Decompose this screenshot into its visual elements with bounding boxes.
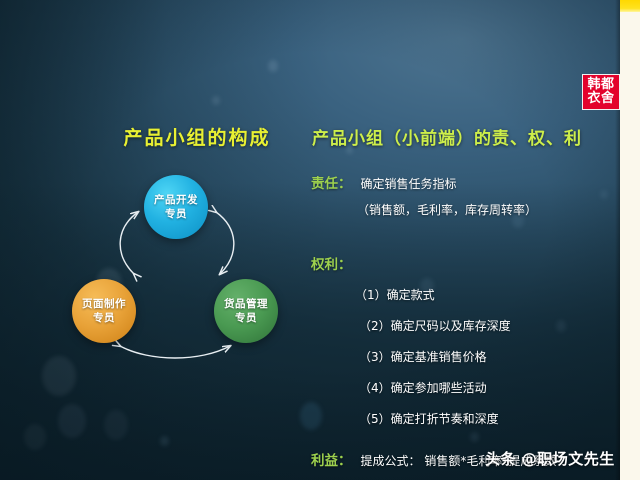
rights-label: 权利： [311,253,611,273]
list-item: （4）确定参加哪些活动 [359,379,611,396]
responsibility-label: 责任： [311,172,352,192]
responsibilities-content: 责任： 确定销售任务指标 （销售额，毛利率，库存周转率） 权利： （1）确定款式… [311,172,611,473]
arrow-orange-blue [120,212,138,274]
brand-logo-line1: 韩都 [587,78,614,92]
right-section-title: 产品小组（小前端）的责、权、利 [312,124,582,149]
yellow-corner-marker [620,0,640,12]
brand-logo: 韩都 衣舍 [582,74,620,110]
rights-list: （1）确定款式 （2）确定尺码以及库存深度 （3）确定基准销售价格 （4）确定参… [311,286,611,427]
node-page-production: 页面制作 专员 [72,279,136,343]
arrow-blue-green [216,212,234,274]
watermark: 头条 @职场文先生 [485,448,615,469]
list-item: （1）确定款式 [355,286,611,303]
node-label-line2: 专员 [235,311,257,325]
rights-block: 权利： （1）确定款式 （2）确定尺码以及库存深度 （3）确定基准销售价格 （4… [311,253,611,427]
team-structure-diagram: 产品开发 专员 页面制作 专员 货品管理 专员 [58,162,302,372]
responsibility-detail: （销售额，毛利率，库存周转率） [357,201,611,218]
list-item: （3）确定基准销售价格 [359,348,611,365]
node-label-line1: 货品管理 [224,297,268,311]
brand-logo-line2: 衣舍 [587,92,614,106]
list-item: （5）确定打折节奏和深度 [359,410,611,427]
node-goods-management: 货品管理 专员 [214,279,278,343]
node-label-line1: 产品开发 [154,193,198,207]
left-section-title: 产品小组的构成 [87,123,307,150]
responsibility-row: 责任： 确定销售任务指标 [311,172,611,192]
responsibility-value: 确定销售任务指标 [361,175,457,192]
node-label-line2: 专员 [165,207,187,221]
benefit-label: 利益： [311,449,352,469]
list-item: （2）确定尺码以及库存深度 [359,317,611,334]
node-label-line1: 页面制作 [82,297,126,311]
responsibility-block: 责任： 确定销售任务指标 （销售额，毛利率，库存周转率） [311,172,611,218]
right-edge-strip [620,0,640,480]
arrow-orange-green [120,346,230,358]
presentation-slide: 韩都 衣舍 产品小组的构成 产品小组（小前端）的责、权、利 产品开发 专员 页面… [0,0,640,480]
node-product-development: 产品开发 专员 [144,175,208,239]
node-label-line2: 专员 [93,311,115,325]
